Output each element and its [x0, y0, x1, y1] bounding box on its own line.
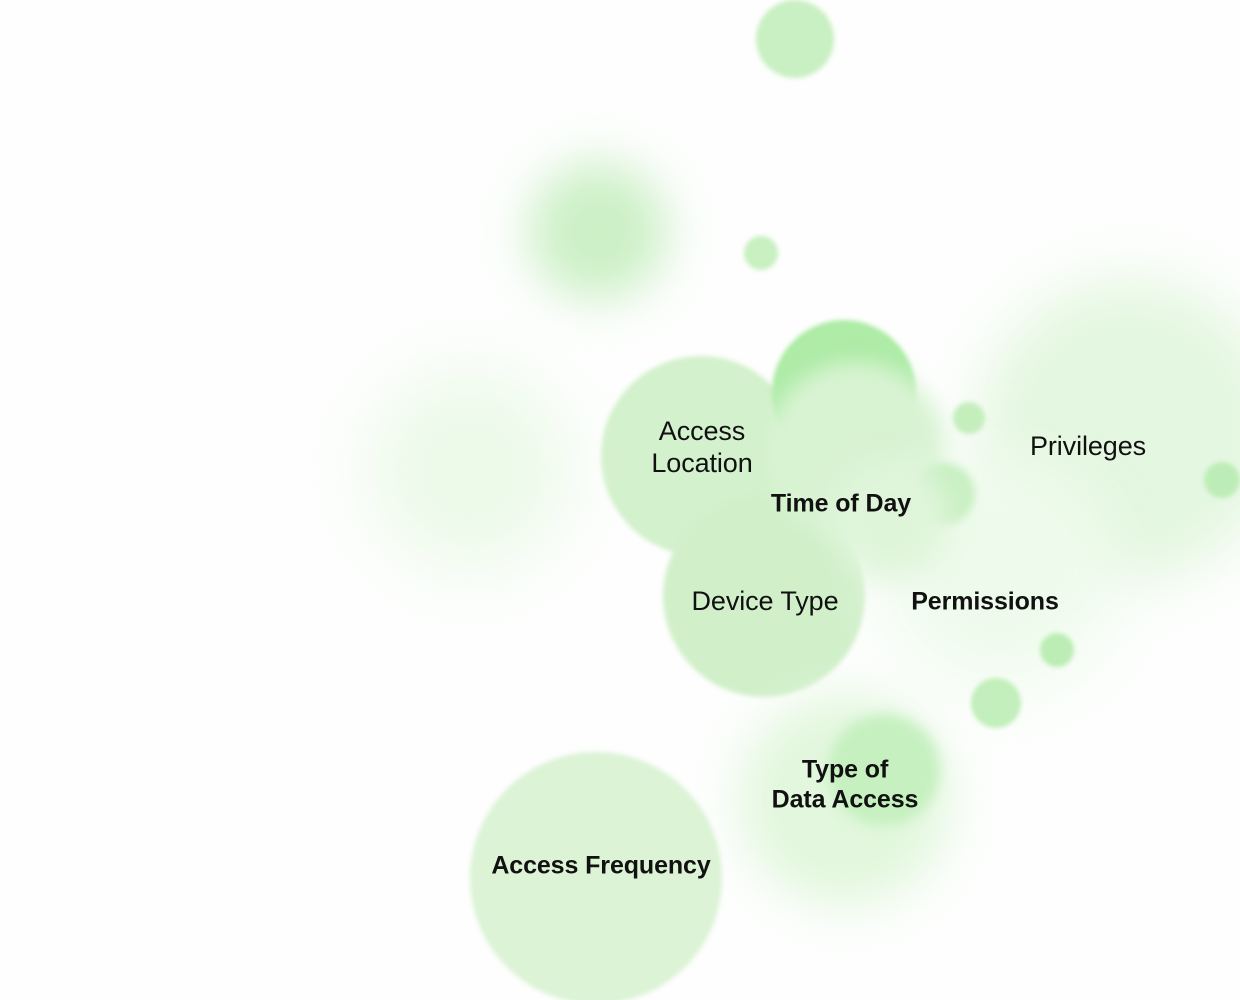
bubble-dot-right-edge — [1204, 462, 1240, 498]
bubble-time-of-day — [772, 320, 916, 464]
bubble-dot-lower-right — [1040, 633, 1074, 667]
bubble-blob-upper-mid — [529, 162, 667, 300]
bubble-privileges — [980, 280, 1240, 580]
bubble-dot-mid-right — [953, 402, 985, 434]
bubble-label-access-frequency[interactable]: Access Frequency — [491, 851, 710, 881]
bubble-permissions — [885, 455, 1115, 685]
bubble-label-device-type[interactable]: Device Type — [692, 586, 839, 618]
bubble-cloud-canvas: Access LocationTime of DayPrivilegesDevi… — [0, 0, 1240, 1000]
bubble-label-type-of-data-access[interactable]: Type of Data Access — [772, 756, 919, 815]
bubble-blob-inner-right — [913, 463, 975, 525]
bubble-blob-mid-sheen — [830, 460, 950, 580]
bubble-blob-top — [756, 0, 834, 78]
bubble-label-time-of-day[interactable]: Time of Day — [771, 489, 911, 519]
bubble-dot-lower-left — [971, 678, 1021, 728]
bubble-label-access-location[interactable]: Access Location — [651, 416, 752, 480]
bubble-label-permissions[interactable]: Permissions — [911, 587, 1059, 617]
bubble-label-privileges[interactable]: Privileges — [1030, 431, 1146, 463]
bubble-blob-left-ghost — [370, 370, 570, 570]
bubble-dot-upper — [744, 236, 778, 270]
